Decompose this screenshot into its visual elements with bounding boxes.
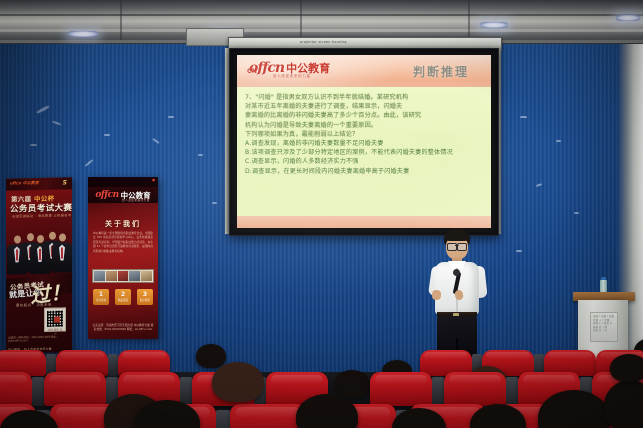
right-wall-edge <box>633 44 643 380</box>
slide-body: 7、"闪婚" 是指男女双方认识不到半年就结婚。某研究机构 对某市近五年离婚的夫妻… <box>237 87 491 216</box>
ceiling-seam <box>0 14 643 16</box>
about-logo-tagline: 给人改变未来的力量 <box>122 198 150 202</box>
competition-roll-up-banner: offcn 中公教育 S 第六届 中公杯 公务员考试大赛 全国百城联动 · 海选… <box>6 177 72 353</box>
about-banner-footer: 山东总部：济南市历下区泺源大街 中公教育大厦 报名热线：0531-6670000… <box>92 323 154 331</box>
ceiling-downlight-icon <box>68 31 98 37</box>
qr-code-icon: 扫码·报名·咨询 <box>44 307 66 331</box>
speaker-left-hand <box>432 290 441 300</box>
about-banner-feature-icons: 1 专业师资 2 精品课程 3 贴心服务 <box>93 289 153 305</box>
slide-text-line: 下列哪项如果为真，最能削弱以上结论？ <box>245 130 484 139</box>
slide-text-line: 机构认为闪婚是导致夫妻离婚的一个重要原因。 <box>245 121 484 130</box>
microphone-head-icon <box>453 269 460 276</box>
slide-footer-band <box>237 216 491 228</box>
about-banner-corner-mark: ● <box>152 178 155 182</box>
slide-title: 判断推理 <box>413 63 469 80</box>
offcn-logo-cn-mark: CN <box>247 68 257 75</box>
banner-people-photo <box>6 219 72 274</box>
about-us-roll-up-banner: ● offcn 中公教育 给人改变未来的力量 关于我们 中公教育是一家全国性综合… <box>88 177 158 339</box>
audience-head <box>610 354 643 382</box>
audience-head <box>296 394 358 428</box>
ceiling-downlight-icon <box>480 22 508 28</box>
eyeglasses-icon <box>447 243 467 249</box>
audience-head <box>212 362 264 402</box>
about-banner-photo-strip <box>92 269 154 283</box>
audience-head <box>196 344 226 368</box>
slide-text-line: 妻离婚的比离婚的非闪婚夫妻高了多少个百分点。由此，该研究 <box>245 111 484 120</box>
slide-text-line: 对某市近五年离婚的夫妻进行了调查，结果显示，闪婚夫 <box>245 102 484 111</box>
feature-icon-3: 3 贴心服务 <box>137 289 153 305</box>
about-logo-latin: offcn <box>95 190 118 200</box>
audience-seating <box>0 332 643 428</box>
screen-surface: offcn 中公教育 CN 给人改变未来的力量 判断推理 7、"闪婚" 是指男女… <box>233 52 495 232</box>
banner-slogan-sub: 赢在起点 · 决胜未来 <box>16 302 52 308</box>
presentation-slide: offcn 中公教育 CN 给人改变未来的力量 判断推理 7、"闪婚" 是指男女… <box>237 55 491 228</box>
projection-screen: offcn 中公教育 CN 给人改变未来的力量 判断推理 7、"闪婚" 是指男女… <box>229 48 499 236</box>
banner-badge: S <box>63 179 67 186</box>
slide-option-d: D.调查显示，在更长时间段内闪婚夫妻离婚率高于闪婚夫妻 <box>245 167 484 176</box>
feature-caption: 专业师资 <box>96 298 106 302</box>
lecture-hall-photo: projector screen housing offcn 中公教育 CN 给… <box>0 0 643 428</box>
about-banner-paragraph: 中公教育是一家全国性综合职业教育企业，全国建立 700 余家直营分部和学习中心。… <box>93 231 153 253</box>
offcn-logo-tagline: 给人改变未来的力量 <box>273 73 311 78</box>
about-banner-top <box>88 177 158 187</box>
slide-option-b: B.该项调查只涉及了少部分特定地区的案例，不能代表闪婚夫妻的整体情况 <box>245 148 484 157</box>
screen-housing-label: projector screen housing <box>300 40 360 45</box>
about-banner-heading: 关于我们 <box>88 219 158 229</box>
slide-text-line: 7、"闪婚" 是指男女双方认识不到半年就结婚。某研究机构 <box>245 93 484 102</box>
ceiling-downlight-icon <box>616 15 640 21</box>
feature-icon-1: 1 专业师资 <box>93 289 109 305</box>
audience-head <box>334 370 370 398</box>
feature-caption: 贴心服务 <box>140 298 150 302</box>
slide-option-a: A.调查发现，离婚的非闪婚夫妻数量不足闪婚夫妻 <box>245 139 484 148</box>
banner-logo: offcn 中公教育 <box>10 180 39 187</box>
slide-option-c: C.调查显示，闪婚的人多数经济实力不强 <box>245 157 484 166</box>
speaker-fringe <box>444 232 470 241</box>
banner-subline: 全国百城联动 · 海选赛事 火热报名中 <box>12 212 71 218</box>
feature-caption: 精品课程 <box>118 298 128 302</box>
feature-icon-2: 2 精品课程 <box>115 289 131 305</box>
